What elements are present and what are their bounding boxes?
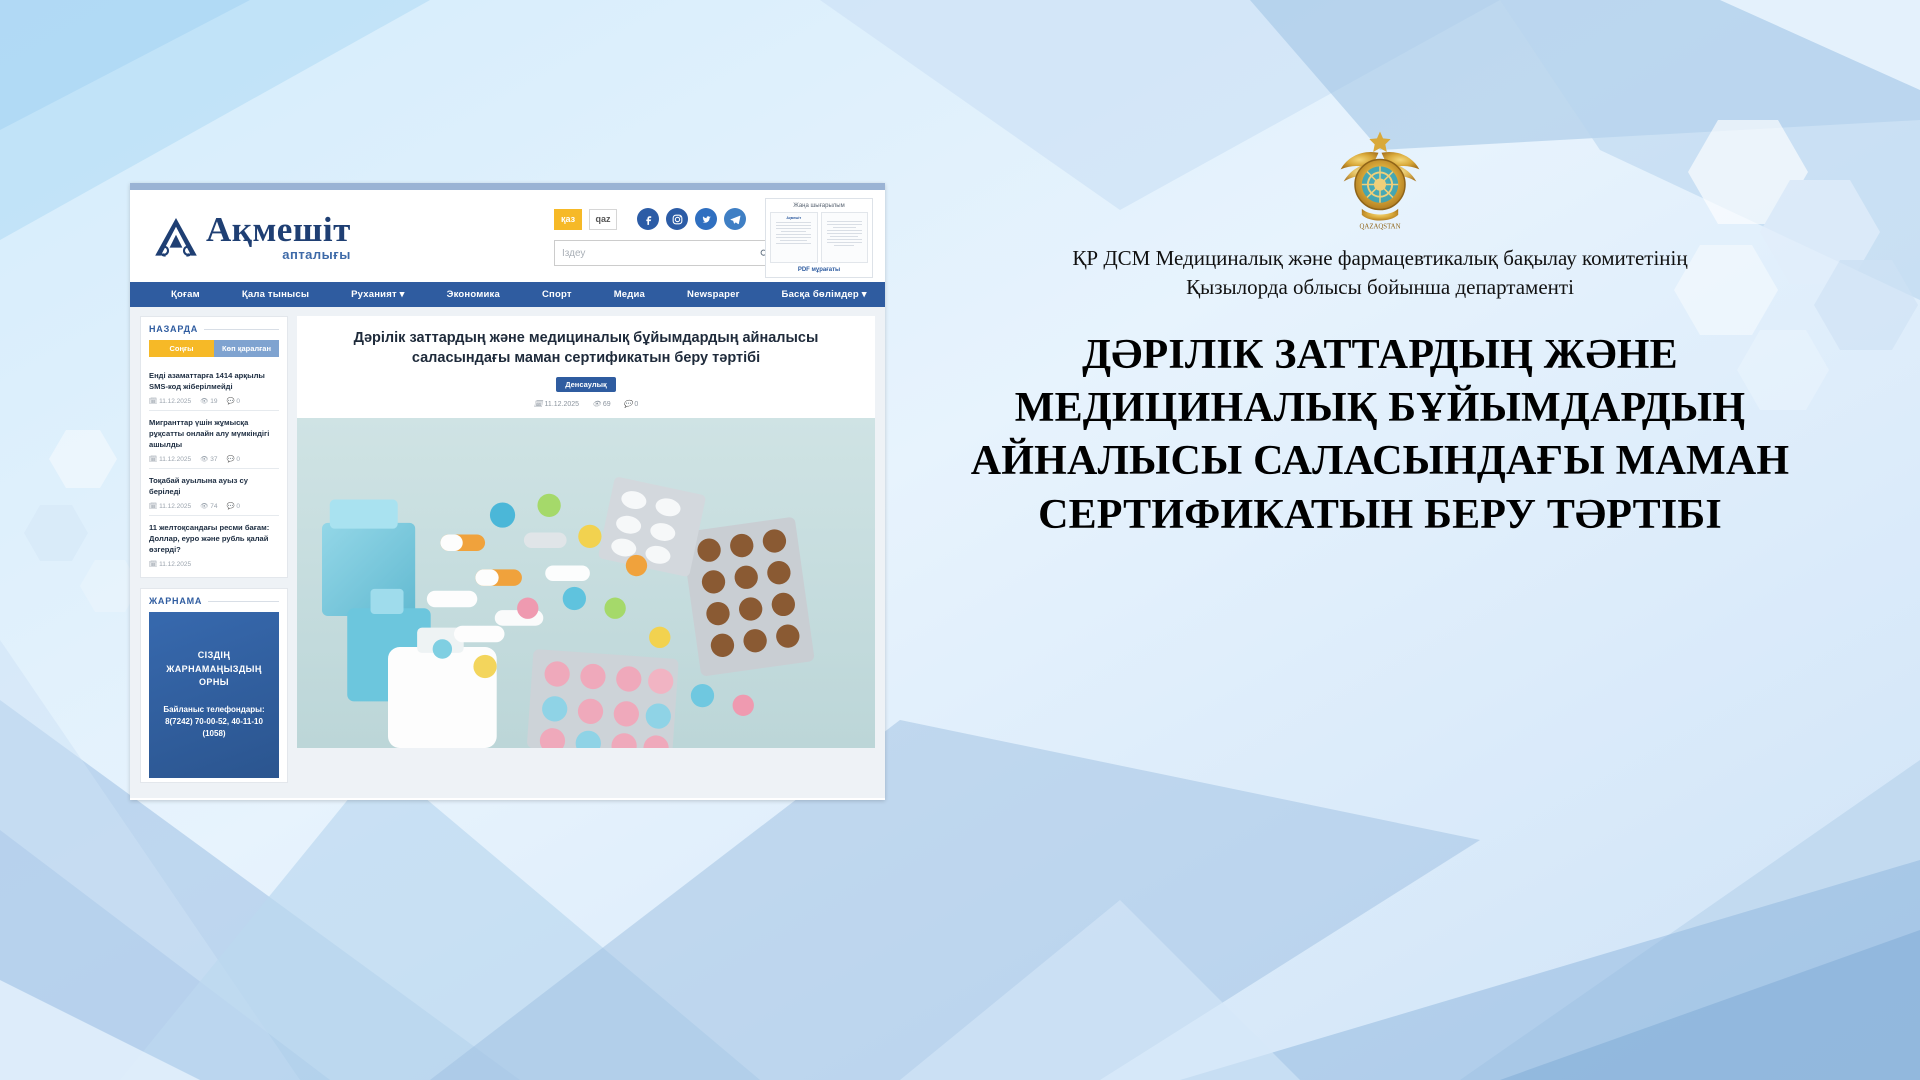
article-photo: [297, 418, 875, 748]
pdf-issue-widget[interactable]: Жаңа шығарылым Ақмешіт PDF мұрағаты: [765, 198, 873, 278]
eye-icon: 👁: [592, 401, 601, 408]
article-header: Дәрілік заттардың және медициналық бұйым…: [297, 316, 875, 418]
comment-icon: 💬: [226, 398, 234, 405]
news-meta: 🗓 11.12.2025: [149, 560, 279, 568]
eye-icon: 👁: [200, 503, 208, 510]
eye-icon: 👁: [200, 398, 208, 405]
brand-name: Ақмешіт: [206, 212, 351, 247]
nav-item-media[interactable]: Медиа: [593, 289, 666, 300]
advertisement-panel: ЖАРНАМА СІЗДІҢ ЖАРНАМАҢЫЗДЫҢ ОРНЫ Байлан…: [140, 588, 288, 783]
calendar-icon: 🗓: [534, 401, 543, 408]
nav-item-ruhaniyat[interactable]: Руханият ▾: [330, 289, 426, 300]
ad-title: ЖАРНАМА: [149, 596, 202, 606]
pdf-archive-link[interactable]: PDF мұрағаты: [770, 267, 868, 273]
ad-line-2: Байланыс телефондары: 8(7242) 70-00-52, …: [157, 704, 271, 741]
news-meta: 🗓 11.12.2025 👁 19 💬 0: [149, 397, 279, 405]
news-views: 37: [210, 456, 217, 463]
main-headline: ДӘРІЛІК ЗАТТАРДЫҢ ЖӘНЕ МЕДИЦИНАЛЫҚ БҰЙЫМ…: [930, 329, 1830, 542]
title-divider: [208, 601, 279, 602]
ad-placeholder-banner[interactable]: СІЗДІҢ ЖАРНАМАҢЫЗДЫҢ ОРНЫ Байланыс телеф…: [149, 612, 279, 778]
search-placeholder: Іздеу: [562, 248, 585, 259]
comment-icon: 💬: [226, 503, 234, 510]
pdf-thumb-brand: Ақмешіт: [786, 216, 801, 220]
title-divider: [204, 329, 279, 330]
calendar-icon: 🗓: [149, 398, 157, 405]
nav-item-sport[interactable]: Спорт: [521, 289, 593, 300]
twitter-icon[interactable]: [695, 208, 717, 230]
telegram-icon[interactable]: [724, 208, 746, 230]
top-accent-strip: [130, 183, 885, 190]
right-text-panel: QAZAQSTAN ҚР ДСМ Медициналық және фармац…: [900, 130, 1860, 542]
pdf-widget-title: Жаңа шығарылым: [770, 203, 868, 209]
news-views: 19: [210, 398, 217, 405]
status-badge[interactable]: Денсаулық: [556, 377, 616, 392]
list-item[interactable]: Мигранттар үшін жұмысқа рұқсатты онлайн …: [149, 411, 279, 469]
calendar-icon: 🗓: [149, 503, 157, 510]
comment-icon: 💬: [226, 456, 234, 463]
news-date: 11.12.2025: [159, 561, 191, 568]
news-title: 11 желтоқсандағы ресми бағам: Доллар, еу…: [149, 522, 279, 555]
news-date: 11.12.2025: [159, 456, 191, 463]
nav-item-qogam[interactable]: Қоғам: [150, 289, 221, 300]
instagram-icon[interactable]: [666, 208, 688, 230]
department-subtitle: ҚР ДСМ Медициналық және фармацевтикалық …: [1030, 244, 1730, 303]
site-brand[interactable]: Ақмешіт апталығы: [152, 212, 351, 261]
article-meta: 🗓 11.12.2025 👁 69 💬 0: [311, 400, 861, 408]
news-comments: 0: [236, 398, 240, 405]
news-date: 11.12.2025: [159, 398, 191, 405]
main-navigation: Қоғам Қала тынысы Руханият ▾ Экономика С…: [130, 282, 885, 307]
search-input[interactable]: Іздеу: [554, 240, 777, 266]
list-item[interactable]: 11 желтоқсандағы ресми бағам: Доллар, еу…: [149, 516, 279, 573]
nav-item-newspaper[interactable]: Newspaper: [666, 289, 761, 300]
article-comments: 0: [634, 401, 638, 408]
facebook-icon[interactable]: [637, 208, 659, 230]
nav-item-qala-tynysy[interactable]: Қала тынысы: [221, 289, 330, 300]
attention-title: НАЗАРДА: [149, 324, 198, 334]
pdf-thumbnails: Ақмешіт: [770, 212, 868, 263]
calendar-icon: 🗓: [149, 456, 157, 463]
news-views: 74: [210, 503, 217, 510]
news-meta: 🗓 11.12.2025 👁 37 💬 0: [149, 455, 279, 463]
svg-text:QAZAQSTAN: QAZAQSTAN: [1360, 223, 1401, 230]
ad-panel-header: ЖАРНАМА: [149, 596, 279, 606]
news-meta: 🗓 11.12.2025 👁 74 💬 0: [149, 502, 279, 510]
tab-latest[interactable]: Соңғы: [149, 340, 214, 357]
list-item[interactable]: Тоқабай ауылына ауыз су беріледі 🗓 11.12…: [149, 469, 279, 516]
site-body: НАЗАРДА Соңғы Көп қаралған Енді азаматта…: [130, 307, 885, 798]
article-date: 11.12.2025: [545, 401, 580, 408]
pdf-thumbnail-back[interactable]: [821, 212, 869, 263]
lang-switch-qaz[interactable]: qaz: [589, 209, 617, 230]
website-screenshot-card: Ақмешіт апталығы қаз qaz: [130, 183, 885, 800]
news-comments: 0: [236, 503, 240, 510]
news-comments: 0: [236, 456, 240, 463]
ad-line-1: СІЗДІҢ ЖАРНАМАҢЫЗДЫҢ ОРНЫ: [157, 649, 271, 690]
comment-icon: 💬: [624, 401, 633, 408]
news-title: Тоқабай ауылына ауыз су беріледі: [149, 475, 279, 497]
akmeshit-ornament-logo-icon: [152, 215, 200, 261]
news-title: Мигранттар үшін жұмысқа рұқсатты онлайн …: [149, 417, 279, 450]
page-title: Дәрілік заттардың және медициналық бұйым…: [311, 328, 861, 368]
pdf-thumbnail-front[interactable]: Ақмешіт: [770, 212, 818, 263]
attention-panel-header: НАЗАРДА: [149, 324, 279, 334]
calendar-icon: 🗓: [149, 561, 157, 568]
news-title: Енді азаматтарға 1414 арқылы SMS-код жіб…: [149, 370, 279, 392]
attention-panel: НАЗАРДА Соңғы Көп қаралған Енді азаматта…: [140, 316, 288, 578]
list-item[interactable]: Енді азаматтарға 1414 арқылы SMS-код жіб…: [149, 364, 279, 411]
news-date: 11.12.2025: [159, 503, 191, 510]
eye-icon: 👁: [200, 456, 208, 463]
article-views: 69: [603, 401, 611, 408]
article-column: Дәрілік заттардың және медициналық бұйым…: [297, 316, 875, 798]
sidebar-column: НАЗАРДА Соңғы Көп қаралған Енді азаматта…: [140, 316, 288, 798]
nav-item-other[interactable]: Басқа бөлімдер ▾: [761, 289, 885, 300]
nav-item-ekonomika[interactable]: Экономика: [426, 289, 521, 300]
attention-tabs: Соңғы Көп қаралған: [149, 340, 279, 357]
tab-most-viewed[interactable]: Көп қаралған: [214, 340, 279, 357]
lang-switch-kaz[interactable]: қаз: [554, 209, 582, 230]
kazakhstan-state-emblem-icon: QAZAQSTAN: [1334, 130, 1426, 230]
brand-subtitle: апталығы: [206, 248, 351, 261]
